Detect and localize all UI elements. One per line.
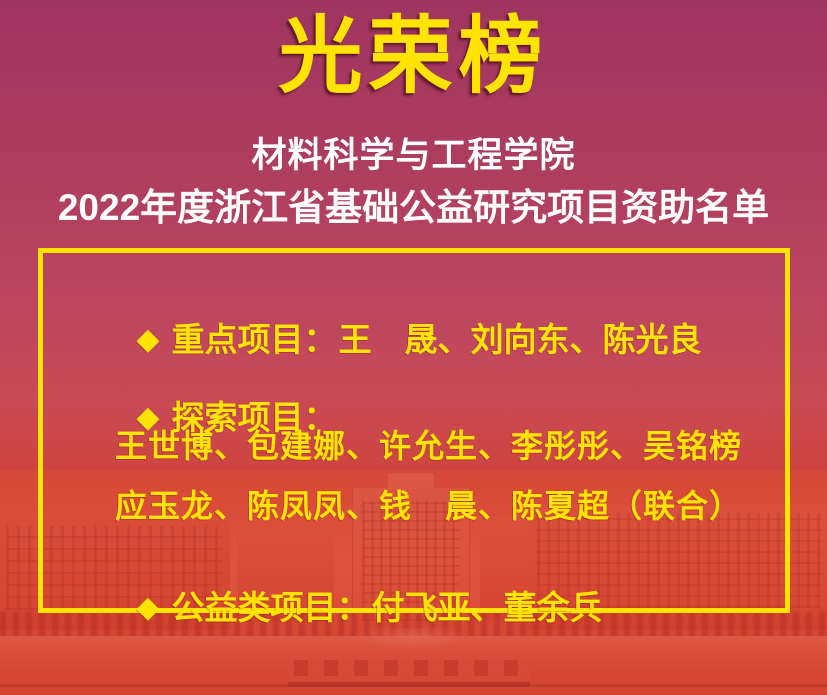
award-entry-public-welfare-project: ◆公益类项目：付飞亚、董余兵 xyxy=(63,543,602,667)
award-names-key-project: 王 晟、刘向东、陈光良 xyxy=(338,321,701,358)
award-names-public-welfare-project: 付飞亚、董余兵 xyxy=(371,589,602,626)
diamond-bullet-icon: ◆ xyxy=(136,325,159,355)
award-list-box: ◆重点项目：王 晟、刘向东、陈光良 ◆探索项目： 王世博、包建娜、许允生、李彤彤… xyxy=(38,248,790,613)
subtitle-college: 材料科学与工程学院 xyxy=(0,137,827,176)
page-title: 光荣榜 xyxy=(0,14,827,98)
subtitle-program: 2022年度浙江省基础公益研究项目资助名单 xyxy=(0,188,827,229)
award-names-explore-line-2: 应玉龙、陈凤凤、钱 晨、陈夏超（联合） xyxy=(115,481,742,527)
diamond-bullet-icon: ◆ xyxy=(136,593,159,623)
poster-content: 光荣榜 材料科学与工程学院 2022年度浙江省基础公益研究项目资助名单 ◆重点项… xyxy=(0,0,827,695)
honor-roll-poster: 光荣榜 材料科学与工程学院 2022年度浙江省基础公益研究项目资助名单 ◆重点项… xyxy=(0,0,827,695)
award-names-explore-line-1: 王世博、包建娜、许允生、李彤彤、吴铭榜 xyxy=(115,421,742,467)
award-label-public-welfare-project: 公益类项目： xyxy=(171,589,369,626)
